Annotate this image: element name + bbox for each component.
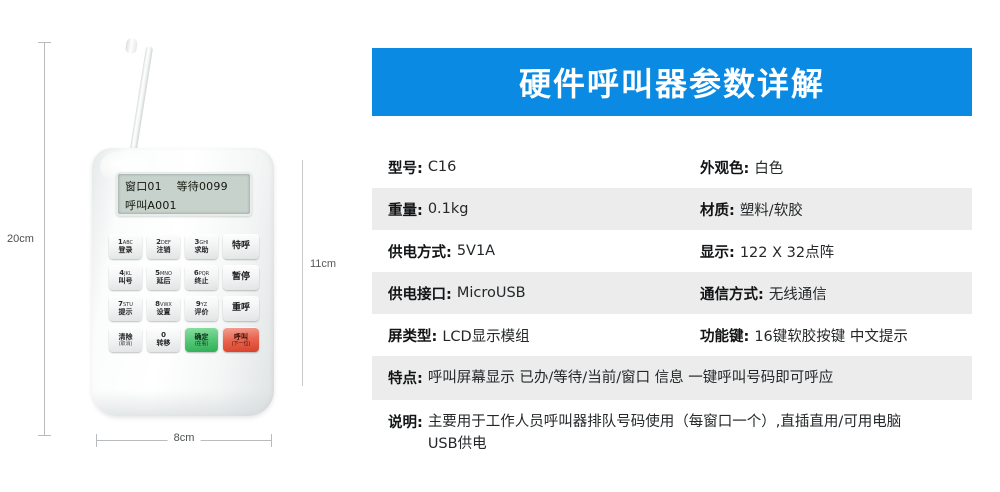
spec-cell: 重量: 0.1kg bbox=[388, 188, 700, 230]
key-sublabel: (取消) bbox=[119, 341, 132, 347]
lcd-line-2: 呼叫A001 bbox=[125, 196, 244, 215]
spec-value: 122 X 32点阵 bbox=[740, 241, 834, 262]
spec-panel: 硬件呼叫器参数详解 型号: C16 外观色: 白色 重量: 0.1kg bbox=[372, 0, 972, 492]
key-label: 注销 bbox=[157, 246, 171, 254]
spec-label: 外观色: bbox=[700, 157, 749, 178]
key-legend: 8VWX bbox=[155, 301, 172, 308]
key-6-terminate[interactable]: 6PQR 终止 bbox=[185, 265, 218, 290]
spec-value: C16 bbox=[428, 159, 457, 175]
key-2-logout[interactable]: 2DEF 注销 bbox=[147, 234, 180, 259]
key-sublabel: (在看) bbox=[195, 341, 208, 347]
keypad-row: 1ABC 登录 2DEF 注销 3GHI 求助 特呼 bbox=[109, 234, 259, 259]
lcd-screen: 窗口01 等待0099 呼叫A001 bbox=[116, 172, 252, 216]
product-spec-page: 窗口01 等待0099 呼叫A001 1ABC 登录 2DEF 注销 3GHI bbox=[0, 0, 1000, 492]
key-label: 登录 bbox=[119, 246, 133, 254]
key-label: 评价 bbox=[195, 308, 209, 316]
key-label: 提示 bbox=[119, 308, 133, 316]
key-label: 设置 bbox=[157, 308, 171, 316]
spec-cell: 特点: 呼叫屏幕显示 已办/等待/当前/窗口 信息 一键呼叫号码即可呼应 bbox=[388, 356, 972, 389]
table-row: 重量: 0.1kg 材质: 塑料/软胶 bbox=[372, 188, 972, 230]
key-8-settings[interactable]: 8VWX 设置 bbox=[147, 296, 180, 321]
key-label: 暂停 bbox=[232, 272, 250, 283]
dimension-tick bbox=[271, 434, 272, 447]
spec-cell: 显示: 122 X 32点阵 bbox=[700, 230, 972, 272]
title-banner: 硬件呼叫器参数详解 bbox=[372, 48, 972, 116]
key-label: 求助 bbox=[195, 246, 209, 254]
spec-table: 型号: C16 外观色: 白色 重量: 0.1kg 材质: 塑料/软胶 bbox=[372, 146, 972, 463]
key-legend: 6PQR bbox=[194, 270, 209, 277]
spec-value: 16键软胶按键 中文提示 bbox=[754, 325, 908, 346]
key-label: 确定 bbox=[195, 333, 209, 341]
table-row: 型号: C16 外观色: 白色 bbox=[372, 146, 972, 188]
key-call-next[interactable]: 呼叫 (下一位) bbox=[223, 327, 259, 352]
key-legend: 1ABC bbox=[118, 239, 133, 246]
spec-cell: 功能键: 16键软胶按键 中文提示 bbox=[700, 314, 972, 356]
spec-label: 供电方式: bbox=[388, 241, 452, 262]
spec-cell: 供电接口: MicroUSB bbox=[388, 272, 700, 314]
spec-label: 特点: bbox=[388, 367, 423, 388]
spec-label: 通信方式: bbox=[700, 283, 764, 304]
antenna-icon bbox=[129, 46, 153, 156]
spec-value: LCD显示模组 bbox=[442, 325, 529, 346]
dimension-width: 8cm bbox=[96, 440, 272, 441]
spec-cell: 型号: C16 bbox=[388, 146, 700, 188]
product-photo: 窗口01 等待0099 呼叫A001 1ABC 登录 2DEF 注销 3GHI bbox=[0, 0, 360, 492]
key-legend: 4JKL bbox=[119, 270, 131, 277]
key-special-call[interactable]: 特呼 bbox=[223, 234, 259, 259]
keypad-row: 4JKL 叫号 5MNO 延后 6PQR 终止 暂停 bbox=[109, 265, 259, 290]
key-recall[interactable]: 重呼 bbox=[223, 296, 259, 321]
spec-value: MicroUSB bbox=[457, 285, 526, 301]
key-confirm[interactable]: 确定 (在看) bbox=[185, 327, 218, 352]
key-label: 呼叫 bbox=[234, 333, 248, 341]
antenna-tip-icon bbox=[125, 37, 138, 55]
table-row: 屏类型: LCD显示模组 功能键: 16键软胶按键 中文提示 bbox=[372, 314, 972, 356]
spec-cell: 材质: 塑料/软胶 bbox=[700, 188, 972, 230]
key-label: 叫号 bbox=[119, 277, 133, 285]
spec-value: 白色 bbox=[754, 157, 783, 178]
key-5-postpone[interactable]: 5MNO 延后 bbox=[147, 265, 180, 290]
spec-cell: 供电方式: 5V1A bbox=[388, 230, 700, 272]
spec-label: 说明: bbox=[388, 411, 423, 432]
dimension-tick bbox=[38, 435, 51, 436]
key-label: 终止 bbox=[195, 277, 209, 285]
dimension-label-body-height: 11cm bbox=[307, 256, 339, 272]
key-label: 特呼 bbox=[232, 241, 250, 252]
spec-label: 功能键: bbox=[700, 325, 749, 346]
key-legend: 5MNO bbox=[155, 270, 172, 277]
spec-label: 供电接口: bbox=[388, 283, 452, 304]
spec-cell: 外观色: 白色 bbox=[700, 146, 972, 188]
keypad: 1ABC 登录 2DEF 注销 3GHI 求助 特呼 bbox=[109, 234, 259, 358]
spec-value: 塑料/软胶 bbox=[740, 199, 803, 220]
spec-cell: 屏类型: LCD显示模组 bbox=[388, 314, 700, 356]
dimension-body-height: 11cm bbox=[302, 160, 303, 386]
spec-value: 主要用于工作人员呼叫器排队号码使用（每窗口一个）,直插直用/可用电脑USB供电 bbox=[428, 411, 928, 455]
key-label: 转移 bbox=[157, 339, 171, 347]
spec-value: 呼叫屏幕显示 已办/等待/当前/窗口 信息 一键呼叫号码即可呼应 bbox=[428, 367, 833, 389]
spec-label: 重量: bbox=[388, 199, 423, 220]
key-9-rating[interactable]: 9YZ 评价 bbox=[185, 296, 218, 321]
spec-label: 屏类型: bbox=[388, 325, 437, 346]
table-row: 供电接口: MicroUSB 通信方式: 无线通信 bbox=[372, 272, 972, 314]
spec-label: 材质: bbox=[700, 199, 735, 220]
keypad-row: 清除 (取消) 0 转移 确定 (在看) 呼叫 (下一位) bbox=[109, 327, 259, 352]
keypad-row: 7STU 提示 8VWX 设置 9YZ 评价 重呼 bbox=[109, 296, 259, 321]
spec-value: 无线通信 bbox=[769, 283, 827, 304]
key-label: 重呼 bbox=[232, 303, 250, 314]
spec-value: 5V1A bbox=[457, 243, 495, 259]
dimension-tick bbox=[96, 434, 97, 447]
dimension-label-width: 8cm bbox=[168, 432, 201, 444]
key-legend: 7STU bbox=[118, 301, 133, 308]
table-row: 供电方式: 5V1A 显示: 122 X 32点阵 bbox=[372, 230, 972, 272]
key-sublabel: (下一位) bbox=[232, 341, 250, 347]
key-0-transfer[interactable]: 0 转移 bbox=[147, 327, 180, 352]
dimension-label-height: 20cm bbox=[4, 231, 37, 247]
key-legend: 2DEF bbox=[156, 239, 171, 246]
caller-device: 窗口01 等待0099 呼叫A001 1ABC 登录 2DEF 注销 3GHI bbox=[92, 148, 274, 416]
key-legend: 3GHI bbox=[195, 239, 209, 246]
key-label: 清除 bbox=[119, 333, 133, 341]
key-4-call-number[interactable]: 4JKL 叫号 bbox=[109, 265, 142, 290]
spec-cell: 说明: 主要用于工作人员呼叫器排队号码使用（每窗口一个）,直插直用/可用电脑US… bbox=[388, 400, 972, 455]
table-row-features: 特点: 呼叫屏幕显示 已办/等待/当前/窗口 信息 一键呼叫号码即可呼应 bbox=[372, 356, 972, 400]
page-title: 硬件呼叫器参数详解 bbox=[519, 59, 825, 105]
key-legend: 0 bbox=[161, 332, 166, 339]
table-row-description: 说明: 主要用于工作人员呼叫器排队号码使用（每窗口一个）,直插直用/可用电脑US… bbox=[372, 400, 972, 463]
key-pause[interactable]: 暂停 bbox=[223, 265, 259, 290]
spec-label: 型号: bbox=[388, 157, 423, 178]
dimension-tick bbox=[38, 42, 51, 43]
key-legend: 9YZ bbox=[196, 301, 207, 308]
key-7-prompt[interactable]: 7STU 提示 bbox=[109, 296, 142, 321]
spec-cell: 通信方式: 无线通信 bbox=[700, 272, 972, 314]
lcd-line-1: 窗口01 等待0099 bbox=[125, 177, 244, 196]
key-label: 延后 bbox=[157, 277, 171, 285]
key-3-help[interactable]: 3GHI 求助 bbox=[185, 234, 218, 259]
dimension-total-height: 20cm bbox=[44, 42, 45, 436]
key-clear[interactable]: 清除 (取消) bbox=[109, 327, 142, 352]
key-1-login[interactable]: 1ABC 登录 bbox=[109, 234, 142, 259]
spec-label: 显示: bbox=[700, 241, 735, 262]
spec-value: 0.1kg bbox=[428, 201, 469, 217]
